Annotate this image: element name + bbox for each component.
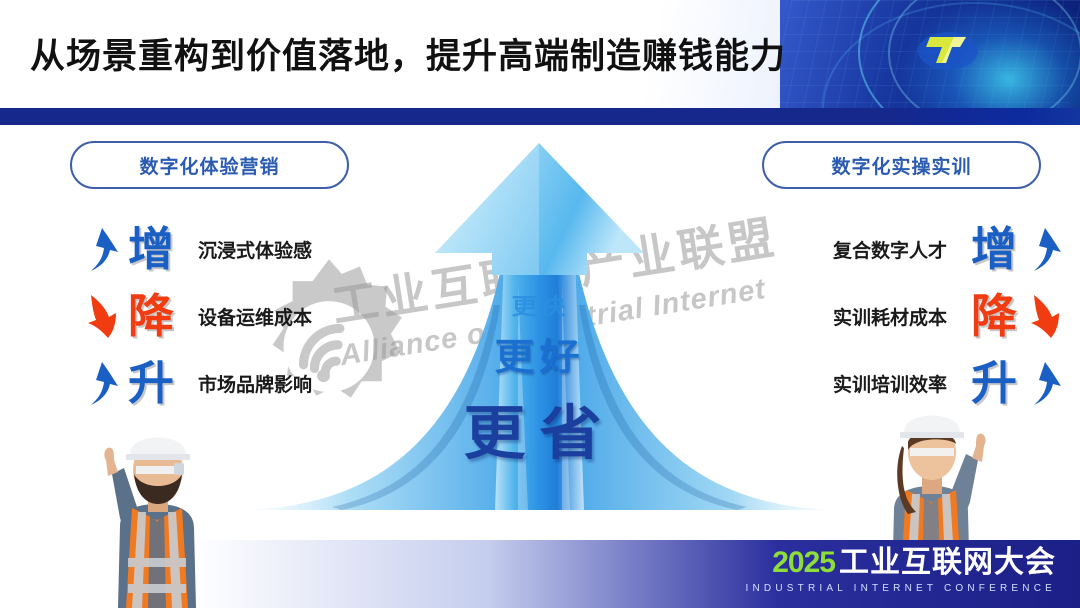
benefit-label: 复合数字人才 [833,236,947,263]
benefit-symbol: 增 [122,226,180,272]
right-benefit-column: 复合数字人才 增 实训耗材成本 降 实训培训效率 升 [735,218,1065,419]
arrow-down-icon [1023,292,1065,340]
page-title: 从场景重构到价值落地，提升高端制造赚钱能力 [30,28,786,79]
benefit-row: 降 设备运维成本 [80,285,410,347]
benefit-symbol: 降 [122,293,180,339]
benefit-label: 市场品牌影响 [198,370,312,397]
pill-right-label: 数字化实操实训 [831,152,971,179]
benefit-label: 设备运维成本 [198,303,312,330]
arrow-down-icon [80,292,122,340]
arrow-up-icon [1023,359,1065,407]
benefit-row: 增 沉浸式体验感 [80,218,410,280]
pill-digital-experience-marketing[interactable]: 数字化体验营销 [70,141,349,189]
left-benefit-column: 增 沉浸式体验感 降 设备运维成本 升 市场品牌影响 [80,218,410,419]
logo-cn-title: 工业互联网大会 [839,548,1056,578]
t-emblem-icon [916,25,980,71]
benefit-row: 实训耗材成本 降 [735,285,1065,347]
benefit-symbol: 升 [122,360,180,406]
header-tech-graphic [780,0,1080,108]
benefit-row: 复合数字人才 增 [735,218,1065,280]
pill-digital-practical-training[interactable]: 数字化实操实训 [762,141,1041,189]
benefit-symbol: 降 [965,293,1023,339]
benefit-label: 实训耗材成本 [833,303,947,330]
logo-en-subtitle: INDUSTRIAL INTERNET CONFERENCE [746,583,1056,594]
benefit-symbol: 增 [965,226,1023,272]
slide-header: 从场景重构到价值落地，提升高端制造赚钱能力 [0,0,1080,108]
arrow-up-icon [80,225,122,273]
benefit-label: 沉浸式体验感 [198,236,312,263]
arrow-up-icon [80,359,122,407]
logo-year: 2025 [772,548,835,578]
slide-root: 从场景重构到价值落地，提升高端制造赚钱能力 工业互联网产业联盟 Alliance… [0,0,1080,608]
arrow-up-icon [1023,225,1065,273]
header-band-fade [880,108,1080,125]
benefit-row: 升 市场品牌影响 [80,352,410,414]
conference-logo: 2025 工业互联网大会 INDUSTRIAL INTERNET CONFERE… [746,548,1056,594]
pill-left-label: 数字化体验营销 [139,152,279,179]
